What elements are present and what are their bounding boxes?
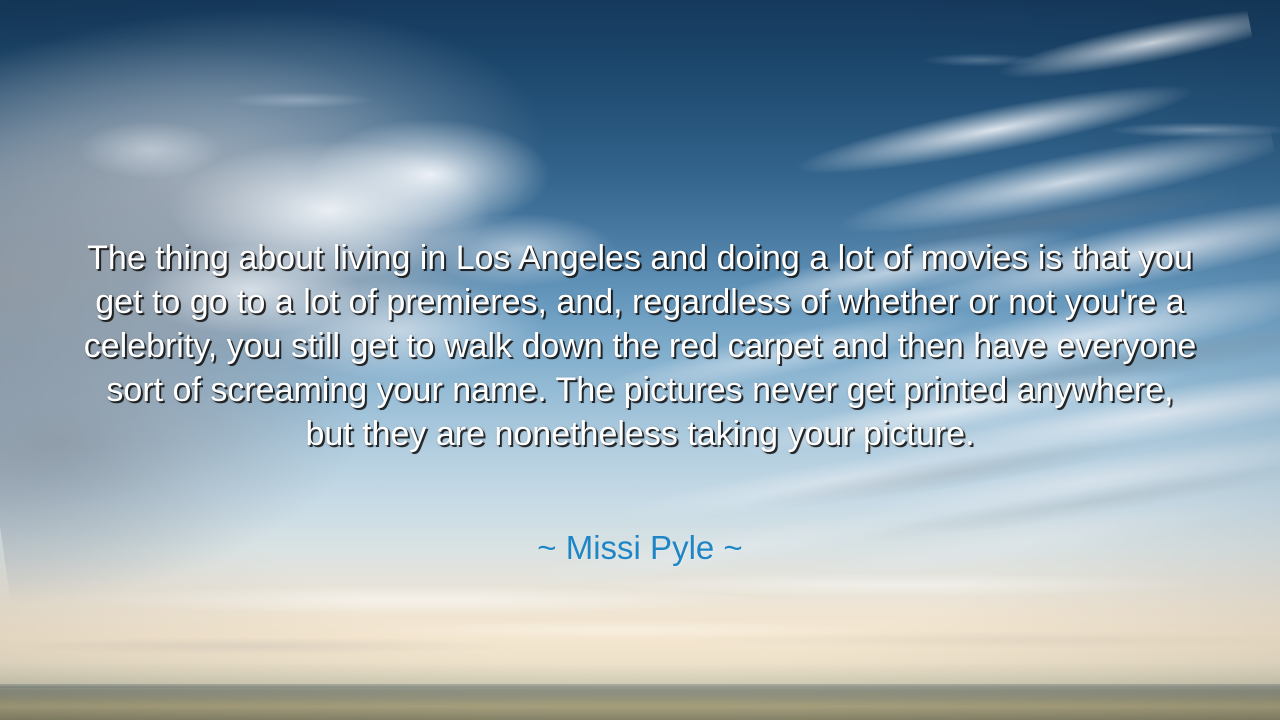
quote-text: The thing about living in Los Angeles an…	[80, 236, 1200, 456]
author-attribution: ~ Missi Pyle ~	[80, 528, 1200, 568]
quote-wallpaper: The thing about living in Los Angeles an…	[0, 0, 1280, 720]
quote-content: The thing about living in Los Angeles an…	[0, 0, 1280, 720]
author-block: ~ Missi Pyle ~	[80, 528, 1200, 568]
quote-block: The thing about living in Los Angeles an…	[80, 236, 1200, 456]
